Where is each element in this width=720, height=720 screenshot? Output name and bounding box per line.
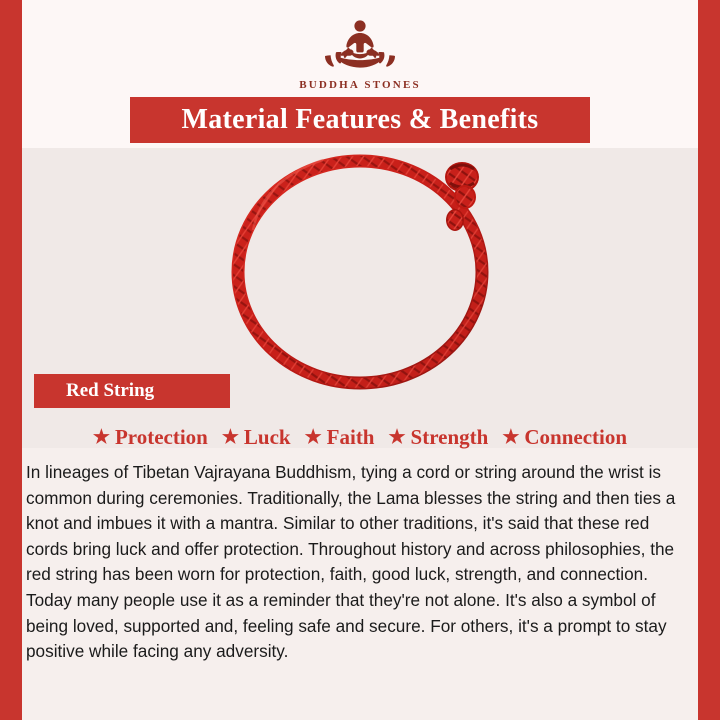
section-title-banner: Material Features & Benefits	[130, 97, 590, 143]
brand-name: BUDDHA STONES	[0, 79, 720, 91]
benefit-label: Luck	[244, 425, 291, 450]
benefit-item-faith: ★ Faith	[295, 425, 375, 450]
star-icon: ★	[305, 426, 322, 449]
benefit-label: Protection	[115, 425, 208, 450]
infographic-page: BUDDHA STONES Material Features & Benefi…	[0, 0, 720, 720]
benefit-label: Strength	[411, 425, 489, 450]
star-icon: ★	[502, 426, 519, 449]
brand-logo: BUDDHA STONES	[0, 14, 720, 91]
benefit-label: Connection	[524, 425, 627, 450]
benefit-label: Faith	[327, 425, 375, 450]
description-text: In lineages of Tibetan Vajrayana Buddhis…	[26, 460, 694, 665]
lotus-meditation-icon	[300, 14, 420, 76]
product-label-tab: Red String	[34, 374, 230, 408]
product-label: Red String	[34, 380, 154, 402]
star-icon: ★	[93, 426, 110, 449]
benefit-item-strength: ★ Strength	[379, 425, 489, 450]
page-title: Material Features & Benefits	[182, 104, 539, 136]
star-icon: ★	[222, 426, 239, 449]
benefits-row: ★ Protection ★ Luck ★ Faith ★ Strength ★…	[34, 420, 686, 454]
benefit-item-connection: ★ Connection	[492, 425, 627, 450]
star-icon: ★	[389, 426, 406, 449]
benefit-item-protection: ★ Protection	[93, 425, 208, 450]
benefit-item-luck: ★ Luck	[212, 425, 291, 450]
